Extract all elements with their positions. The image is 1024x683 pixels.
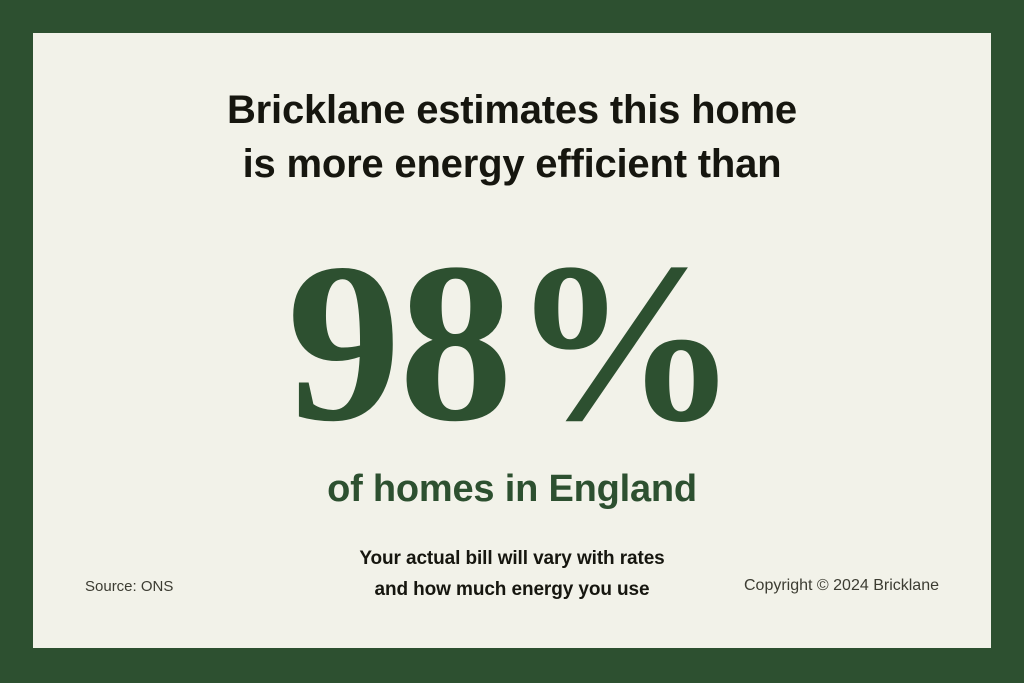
headline-line-1: Bricklane estimates this home: [33, 83, 991, 137]
headline: Bricklane estimates this home is more en…: [33, 83, 991, 191]
card-panel: Bricklane estimates this home is more en…: [33, 33, 991, 648]
energy-efficiency-infographic: Bricklane estimates this home is more en…: [0, 0, 1024, 683]
stat-block: 98%: [33, 229, 991, 457]
disclaimer: Your actual bill will vary with rates an…: [33, 543, 991, 605]
disclaimer-line-1: Your actual bill will vary with rates: [33, 543, 991, 574]
source-note: Source: ONS: [85, 578, 173, 595]
headline-line-2: is more energy efficient than: [33, 137, 991, 191]
copyright-note: Copyright © 2024 Bricklane: [744, 577, 939, 595]
stat-caption: of homes in England: [33, 465, 991, 513]
stat-value: 98%: [287, 229, 737, 457]
